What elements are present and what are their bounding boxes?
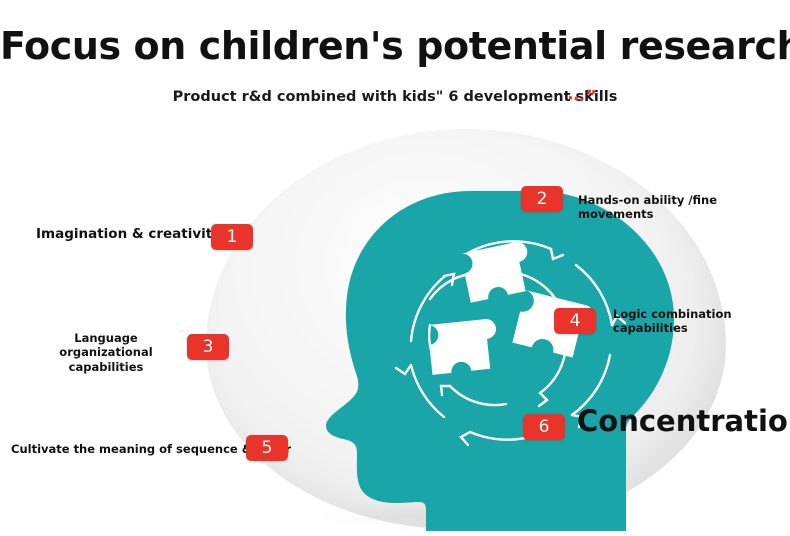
skill-badge-5: 5 [246, 435, 288, 461]
skill-badge-1: 1 [211, 224, 253, 250]
skill-badge-6: 6 [523, 414, 565, 440]
skill-badge-2: 2 [521, 186, 563, 212]
skill-label-4: Logic combination capabilities [613, 307, 732, 336]
skill-label-3: Language organizational capabilities [33, 331, 179, 374]
skill-badge-4: 4 [554, 308, 596, 334]
subtitle-quote-mark: …” [567, 84, 598, 108]
skill-label-1: Imagination & creativity [36, 226, 221, 243]
page-title: Focus on children's potential research [0, 24, 790, 68]
skill-label-2: Hands-on ability /fine movements [578, 193, 790, 222]
skill-label-6: Concentration [577, 403, 790, 439]
skill-badge-3: 3 [187, 334, 229, 360]
page-subtitle: Product r&d combined with kids" 6 develo… [0, 89, 790, 105]
infographic-root: Focus on children's potential research P… [0, 0, 790, 531]
